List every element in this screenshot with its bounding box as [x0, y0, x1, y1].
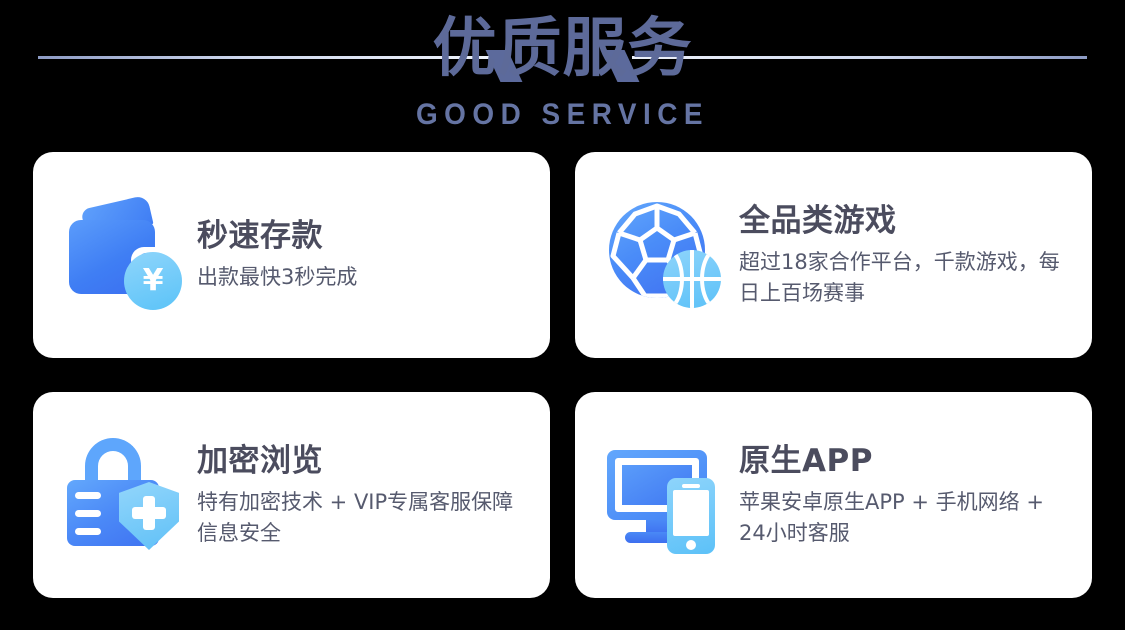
card-description: 超过18家合作平台，千款游戏，每日上百场赛事 — [739, 247, 1064, 309]
basketball-icon — [663, 250, 721, 308]
card-text-block: 加密浏览 特有加密技术 + VIP专属客服保障信息安全 — [197, 442, 536, 549]
yen-coin-icon: ¥ — [124, 252, 182, 310]
card-title: 秒速存款 — [197, 217, 357, 255]
lock-shield-icon — [63, 434, 185, 556]
page-header: 优质服务 GOOD SERVICE — [0, 0, 1125, 148]
lock-slot — [75, 492, 101, 499]
card-description: 苹果安卓原生APP + 手机网络 + 24小时客服 — [739, 487, 1064, 549]
feature-card-native-app[interactable]: 原生APP 苹果安卓原生APP + 手机网络 + 24小时客服 — [575, 392, 1092, 598]
card-description: 特有加密技术 + VIP专属客服保障信息安全 — [197, 487, 522, 549]
card-text-block: 秒速存款 出款最快3秒完成 — [197, 217, 371, 293]
phone-screen — [673, 490, 709, 536]
cross-icon — [132, 507, 166, 519]
wallet-icon: ¥ — [63, 194, 185, 316]
feature-card-grid: ¥ 秒速存款 出款最快3秒完成 — [33, 152, 1092, 598]
feature-card-games[interactable]: 全品类游戏 超过18家合作平台，千款游戏，每日上百场赛事 — [575, 152, 1092, 358]
phone-home-button — [686, 540, 696, 550]
phone-speaker — [682, 484, 700, 488]
page-title: 优质服务 — [0, 8, 1125, 90]
card-title: 加密浏览 — [197, 442, 522, 480]
card-description: 出款最快3秒完成 — [197, 262, 357, 293]
soccer-ball-icon — [605, 194, 727, 316]
feature-card-deposit[interactable]: ¥ 秒速存款 出款最快3秒完成 — [33, 152, 550, 358]
lock-slot — [75, 528, 101, 535]
monitor-phone-icon — [605, 434, 727, 556]
card-title: 原生APP — [739, 442, 1064, 480]
card-title: 全品类游戏 — [739, 202, 1064, 240]
lock-slot — [75, 510, 101, 517]
card-text-block: 原生APP 苹果安卓原生APP + 手机网络 + 24小时客服 — [739, 442, 1078, 549]
feature-card-encryption[interactable]: 加密浏览 特有加密技术 + VIP专属客服保障信息安全 — [33, 392, 550, 598]
card-text-block: 全品类游戏 超过18家合作平台，千款游戏，每日上百场赛事 — [739, 202, 1078, 309]
page-subtitle: GOOD SERVICE — [39, 98, 1085, 132]
basketball-lines — [663, 250, 721, 308]
